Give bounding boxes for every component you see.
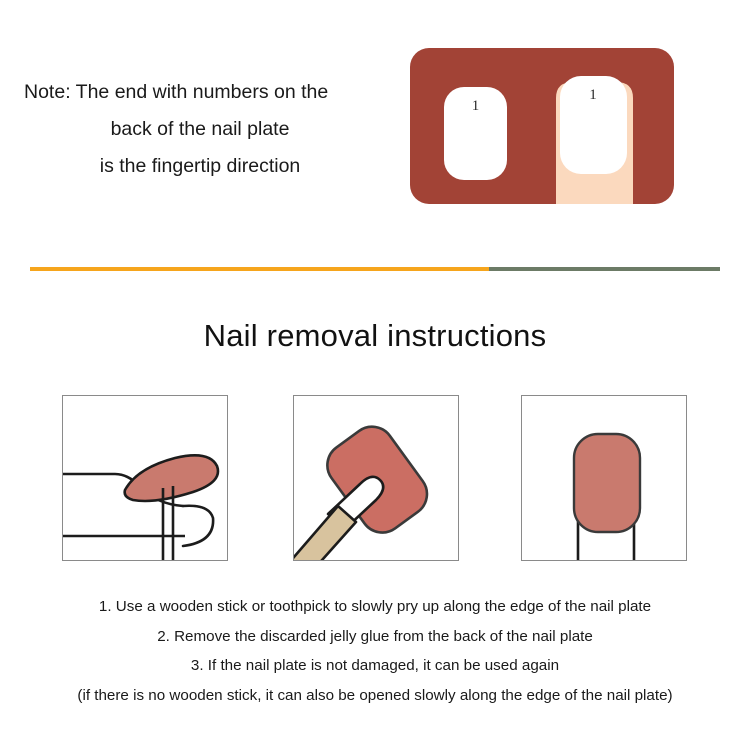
note-line-3: is the fingertip direction <box>10 148 390 185</box>
lifted-nail-plate <box>125 455 218 501</box>
illustration-panels <box>62 395 690 561</box>
note-line-1: Note: The end with numbers on the <box>10 74 390 111</box>
instruction-line-1: 1. Use a wooden stick or toothpick to sl… <box>0 592 750 622</box>
divider-segment-green <box>489 267 720 271</box>
panel-nail-on-finger <box>521 395 687 561</box>
instruction-line-2: 2. Remove the discarded jelly glue from … <box>0 622 750 652</box>
panel-pry-up-side-view <box>62 395 228 561</box>
instruction-line-3: 3. If the nail plate is not damaged, it … <box>0 651 750 681</box>
note-line-2: back of the nail plate <box>10 111 390 148</box>
nail-left-number: 1 <box>472 98 480 114</box>
nail-plate <box>574 434 640 532</box>
page-title: Nail removal instructions <box>0 318 750 354</box>
nail-right-number: 1 <box>589 87 597 103</box>
wooden-stick <box>294 506 356 560</box>
note-section: Note: The end with numbers on the back o… <box>0 0 750 255</box>
fingertip-curve <box>183 506 213 546</box>
instruction-list: 1. Use a wooden stick or toothpick to sl… <box>0 592 750 710</box>
note-text-block: Note: The end with numbers on the back o… <box>10 74 390 185</box>
instruction-line-4: (if there is no wooden stick, it can als… <box>0 681 750 711</box>
panel-stick-under-nail <box>293 395 459 561</box>
section-divider <box>30 267 720 271</box>
divider-segment-orange <box>30 267 489 271</box>
nail-plate-illustration: 1 1 <box>410 48 674 204</box>
